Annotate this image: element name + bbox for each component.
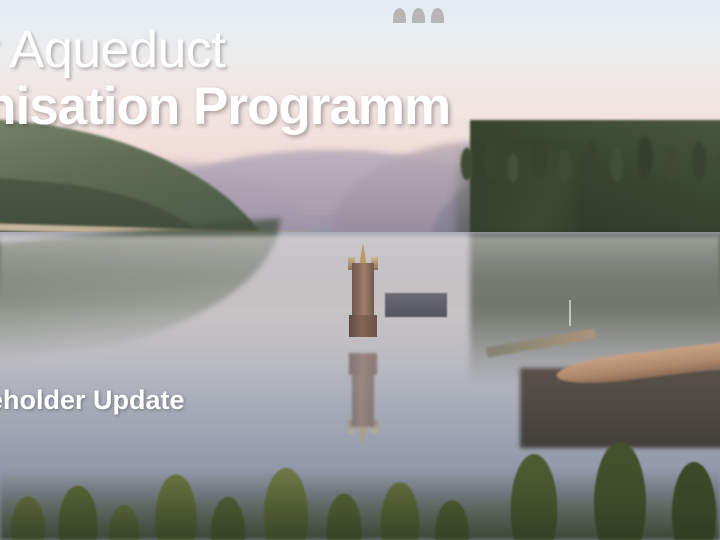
bridge-arch	[431, 8, 444, 23]
slide-date: 8	[0, 420, 478, 456]
tower-base	[349, 315, 377, 337]
slide-subtitle: akeholder Update 8	[0, 381, 478, 456]
bridge-arch	[412, 8, 425, 23]
utility-pole	[569, 300, 571, 326]
causeway-bridge	[385, 293, 447, 317]
slide-title-line-1: wy Aqueduct	[0, 22, 720, 78]
bridge-arch	[393, 8, 406, 23]
title-slide: wy Aqueduct ernisation Programm akeholde…	[0, 0, 720, 540]
slide-subtitle-text: akeholder Update	[0, 381, 478, 420]
tower-base-reflection	[349, 353, 377, 375]
slide-title: wy Aqueduct ernisation Programm	[0, 22, 720, 135]
foreground-conifers-shadow	[0, 470, 720, 540]
slide-title-line-2: ernisation Programm	[0, 78, 720, 135]
